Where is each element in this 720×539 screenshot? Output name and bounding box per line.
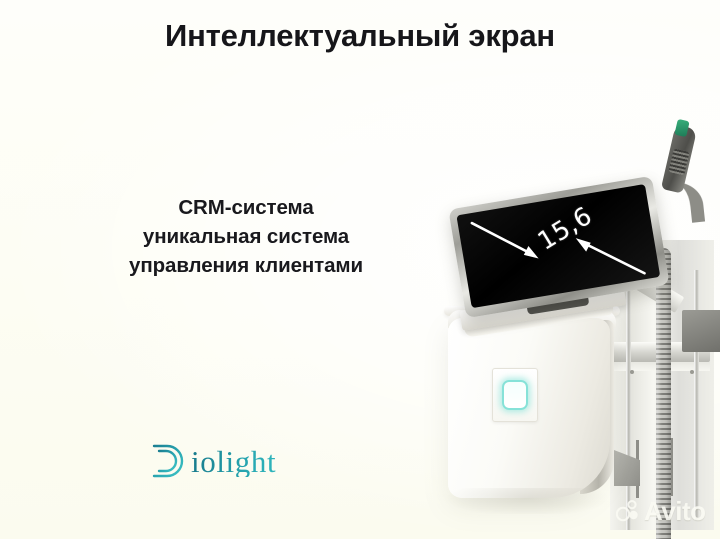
machine-connector-block — [682, 310, 720, 352]
device-image: 15,6 — [430, 120, 720, 539]
avito-logo-icon — [616, 500, 640, 522]
diolight-d-mark-icon — [150, 442, 184, 480]
machine-rail-right — [694, 270, 699, 520]
power-button-glyph-icon — [502, 380, 528, 410]
avito-watermark: Avito — [616, 498, 706, 524]
feature-line-2: уникальная система — [22, 222, 470, 251]
brand-logo: iolight — [150, 442, 276, 480]
machine-screw-right — [690, 370, 694, 374]
feature-line-3: управления клиентами — [22, 251, 470, 280]
machine-floor-shadow — [442, 488, 632, 514]
feature-line-1: CRM-система — [22, 193, 470, 222]
machine-screw-left — [630, 370, 634, 374]
slide-canvas: Интеллектуальный экран CRM-система уника… — [0, 0, 720, 539]
feature-description: CRM-система уникальная система управлени… — [22, 193, 470, 280]
page-title: Интеллектуальный экран — [0, 18, 720, 54]
power-button[interactable] — [492, 368, 538, 422]
brand-wordmark: iolight — [191, 446, 276, 477]
avito-wordmark: Avito — [644, 498, 706, 524]
